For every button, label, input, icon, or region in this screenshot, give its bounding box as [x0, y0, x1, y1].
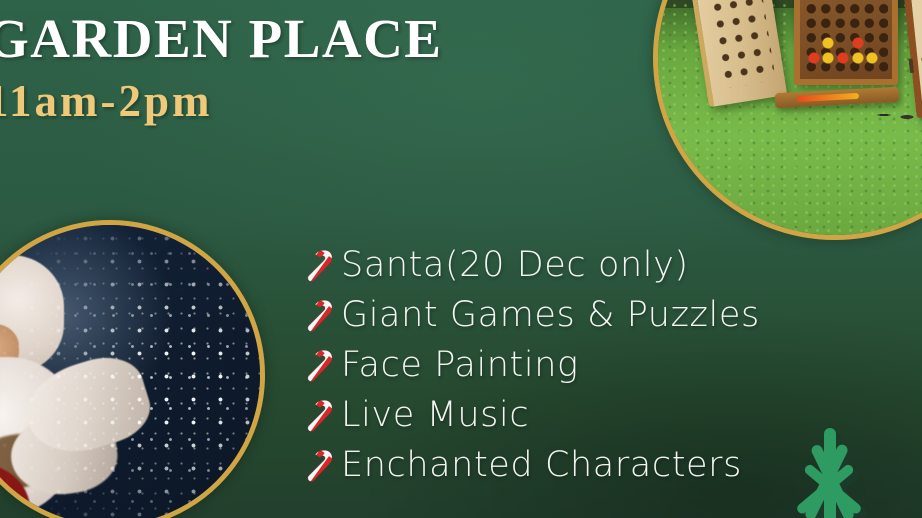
candy-cane-icon: [300, 295, 334, 335]
list-item: Giant Games & Puzzles: [300, 290, 900, 340]
games-photo-scene: [658, 0, 922, 235]
santa-blowing-snow-photo: [0, 220, 265, 518]
list-item-label: Giant Games & Puzzles: [341, 295, 760, 335]
heading-block: GARDEN PLACE 11am-2pm: [0, 8, 626, 126]
event-poster: GARDEN PLACE 11am-2pm: [0, 0, 922, 518]
pine-branch-icon: [774, 416, 906, 518]
list-item: Santa(20 Dec only): [300, 240, 900, 290]
snow-particles: [0, 225, 260, 518]
connect-four-discs: [800, 26, 884, 72]
list-item-label: Enchanted Characters: [341, 445, 742, 485]
list-item-label: Santa(20 Dec only): [341, 245, 689, 285]
santa-photo-scene: [0, 225, 260, 518]
candy-cane-icon: [300, 345, 334, 385]
game-pucks: [877, 108, 922, 122]
giant-lawn-games-photo: [653, 0, 922, 240]
event-time: 11am-2pm: [0, 76, 626, 126]
list-item-label: Live Music: [341, 395, 529, 435]
list-item-label: Face Painting: [341, 345, 579, 385]
candy-cane-icon: [300, 395, 334, 435]
candy-cane-icon: [300, 445, 334, 485]
list-item: Face Painting: [300, 340, 900, 390]
candy-cane-icon: [300, 245, 334, 285]
page-title: GARDEN PLACE: [0, 8, 626, 70]
